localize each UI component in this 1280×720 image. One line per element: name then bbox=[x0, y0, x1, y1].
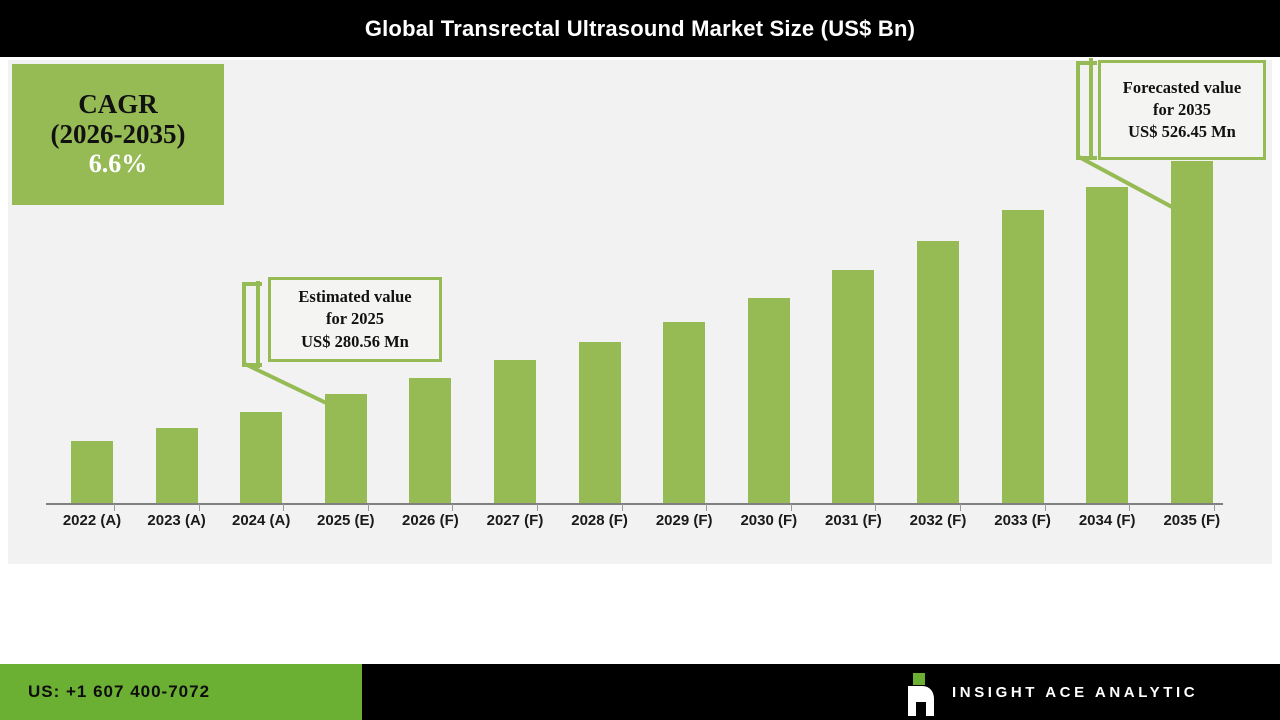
x-axis-tick bbox=[199, 504, 200, 511]
x-axis-tick bbox=[875, 504, 876, 511]
bar-2029F bbox=[663, 322, 705, 503]
forecasted-callout-line1: Forecasted value bbox=[1123, 77, 1241, 99]
forecasted-callout-line2: for 2035 bbox=[1153, 99, 1211, 121]
market-contributors-strip: Market Contributors: PHILIPS GSK FUJiFIL… bbox=[0, 566, 1280, 664]
estimated-callout-line2: for 2025 bbox=[326, 308, 384, 330]
x-axis-label: 2026 (F) bbox=[385, 512, 475, 529]
x-axis-label: 2027 (F) bbox=[470, 512, 560, 529]
x-axis-tick bbox=[452, 504, 453, 511]
brand-name: INSIGHT ACE ANALYTIC bbox=[952, 684, 1198, 701]
forecasted-callout-line3: US$ 526.45 Mn bbox=[1128, 121, 1236, 143]
bar-2035F bbox=[1171, 161, 1213, 503]
bar-2023A bbox=[156, 428, 198, 503]
x-axis-line bbox=[46, 503, 1223, 505]
bar-2026F bbox=[409, 378, 451, 503]
bar-2030F bbox=[748, 298, 790, 503]
estimated-callout-line3: US$ 280.56 Mn bbox=[301, 331, 409, 353]
bar-2028F bbox=[579, 342, 621, 503]
x-axis-label: 2023 (A) bbox=[132, 512, 222, 529]
x-axis-tick bbox=[622, 504, 623, 511]
x-axis-tick bbox=[368, 504, 369, 511]
x-axis-label: 2025 (E) bbox=[301, 512, 391, 529]
x-axis-label: 2033 (F) bbox=[978, 512, 1068, 529]
x-axis-tick bbox=[283, 504, 284, 511]
x-axis-label: 2030 (F) bbox=[724, 512, 814, 529]
x-axis-tick bbox=[537, 504, 538, 511]
x-axis-label: 2029 (F) bbox=[639, 512, 729, 529]
estimated-value-callout: Estimated value for 2025 US$ 280.56 Mn bbox=[268, 277, 442, 362]
forecasted-value-callout: Forecasted value for 2035 US$ 526.45 Mn bbox=[1098, 60, 1266, 160]
footer-phone-number[interactable]: US: +1 607 400-7072 bbox=[28, 682, 210, 702]
x-axis-tick bbox=[1129, 504, 1130, 511]
x-axis-tick bbox=[791, 504, 792, 511]
x-axis-label: 2022 (A) bbox=[47, 512, 137, 529]
x-axis-label: 2024 (A) bbox=[216, 512, 306, 529]
bar-2032F bbox=[917, 241, 959, 503]
x-axis-label: 2028 (F) bbox=[555, 512, 645, 529]
infographic-root: Global Transrectal Ultrasound Market Siz… bbox=[0, 0, 1280, 720]
x-axis-tick bbox=[960, 504, 961, 511]
x-axis-tick bbox=[706, 504, 707, 511]
bar-2033F bbox=[1002, 210, 1044, 503]
insightace-logo-icon bbox=[900, 672, 940, 716]
x-axis-tick bbox=[1214, 504, 1215, 511]
estimated-callout-line1: Estimated value bbox=[298, 286, 411, 308]
bar-2034F bbox=[1086, 187, 1128, 503]
x-axis-label: 2034 (F) bbox=[1062, 512, 1152, 529]
bar-2024A bbox=[240, 412, 282, 503]
bar-2031F bbox=[832, 270, 874, 503]
bar-2022A bbox=[71, 441, 113, 503]
bar-2027F bbox=[494, 360, 536, 503]
x-axis-label: 2031 (F) bbox=[808, 512, 898, 529]
x-axis-label: 2032 (F) bbox=[893, 512, 983, 529]
x-axis-label: 2035 (F) bbox=[1147, 512, 1237, 529]
x-axis-tick bbox=[114, 504, 115, 511]
bar-2025E bbox=[325, 394, 367, 503]
x-axis-tick bbox=[1045, 504, 1046, 511]
